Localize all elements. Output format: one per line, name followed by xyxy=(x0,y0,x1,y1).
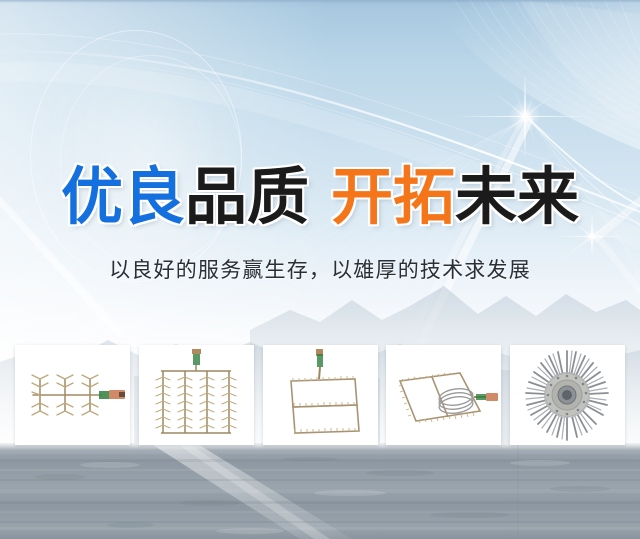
product-card-double-row-spike-rack[interactable] xyxy=(139,345,254,445)
promo-banner: 优良品质开拓未来 以良好的服务赢生存，以雄厚的技术求发展 xyxy=(0,0,640,539)
product-card-comb-rack-horizontal[interactable] xyxy=(15,345,130,445)
subtitle: 以良好的服务赢生存，以雄厚的技术求发展 xyxy=(0,256,640,286)
flat-frame-rack-icon xyxy=(263,345,378,445)
headline-segment-black-1: 品质 xyxy=(185,163,309,233)
square-ring-rack-icon xyxy=(386,345,501,445)
headline-segment-black-2: 未来 xyxy=(455,163,579,233)
headline-segment-orange: 开拓 xyxy=(331,163,455,233)
floor-texture xyxy=(0,443,640,539)
comb-rack-horizontal-icon xyxy=(15,345,130,445)
headline-segment-blue: 优良 xyxy=(61,163,185,233)
product-card-radial-starburst-rack[interactable] xyxy=(510,345,625,445)
top-edge-shade xyxy=(0,0,640,3)
product-thumbnail-strip xyxy=(15,345,625,445)
product-card-square-ring-rack[interactable] xyxy=(386,345,501,445)
concrete-floor xyxy=(0,443,640,539)
product-card-flat-frame-rack[interactable] xyxy=(263,345,378,445)
double-row-spike-rack-icon xyxy=(139,345,254,445)
radial-starburst-rack-icon xyxy=(510,345,625,445)
headline: 优良品质开拓未来 xyxy=(0,163,640,233)
